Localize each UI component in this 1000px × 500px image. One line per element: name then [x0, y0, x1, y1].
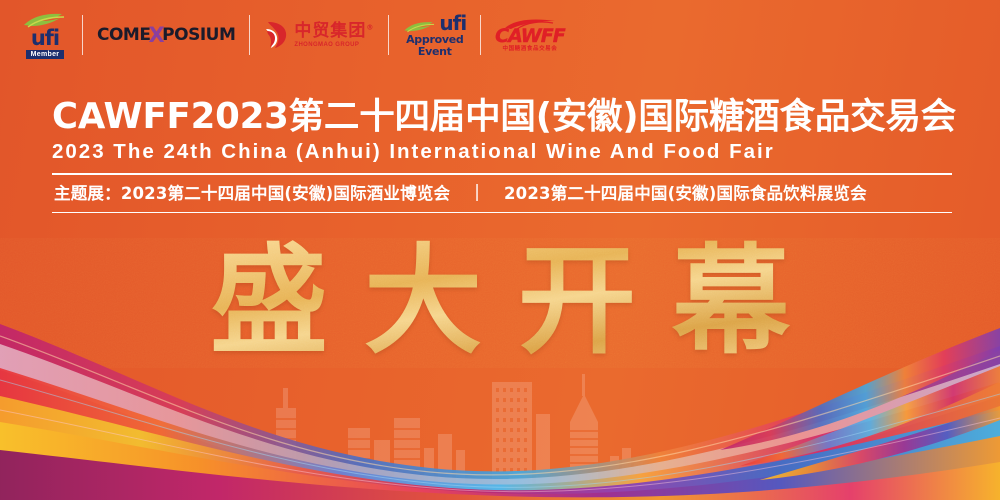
logo-divider — [480, 15, 481, 55]
page-subtitle: 2023 The 24th China (Anhui) Internationa… — [52, 140, 952, 164]
ufi-approved-line1: Approved — [406, 34, 463, 46]
rule-bottom — [52, 212, 952, 214]
zhongmao-group-logo[interactable]: 中贸集团® ZHONGMAO GROUP — [264, 8, 374, 62]
comexposium-part2: POSIUM — [162, 25, 235, 45]
theme-exhibition-1: 2023第二十四届中国(安徽)国际酒业博览会 — [121, 180, 450, 204]
ufi-approved-wordmark: ufi — [439, 13, 466, 34]
page-title: CAWFF2023第二十四届中国(安徽)国际糖酒食品交易会 — [52, 98, 952, 136]
zhongmao-mark-icon — [264, 20, 290, 50]
comexposium-part1: COME — [97, 25, 150, 45]
cawff-logo[interactable]: CAWFF 中国糖酒食品交易会 — [495, 8, 565, 62]
logo-divider — [249, 15, 250, 55]
colorful-ribbon-waves — [0, 310, 1000, 500]
cawff-wordmark: CAWFF — [495, 27, 565, 46]
theme-label: 主题展： — [54, 180, 121, 204]
registered-mark-icon: ® — [366, 23, 374, 31]
comexposium-logo[interactable]: COME X POSIUM — [97, 8, 235, 62]
zhongmao-chinese-name: 中贸集团® — [294, 23, 374, 40]
cawff-chinese-name: 中国糖酒食品交易会 — [502, 47, 557, 53]
logo-divider — [388, 15, 389, 55]
theme-divider: | — [474, 182, 480, 201]
ufi-member-logo[interactable]: ufi Member — [22, 8, 68, 62]
ufi-wordmark: ufi — [31, 28, 59, 49]
ufi-member-tag: Member — [26, 50, 65, 59]
ufi-approved-event-logo[interactable]: ufi Approved Event — [403, 8, 466, 62]
headline-block: CAWFF2023第二十四届中国(安徽)国际糖酒食品交易会 2023 The 2… — [52, 98, 952, 213]
logo-divider — [82, 15, 83, 55]
theme-exhibition-2: 2023第二十四届中国(安徽)国际食品饮料展览会 — [504, 180, 867, 204]
ufi-approved-wing-icon — [403, 20, 437, 34]
zhongmao-english-name: ZHONGMAO GROUP — [294, 42, 374, 48]
event-banner: ufi Member COME X POSIUM — [0, 0, 1000, 500]
sponsor-logo-bar: ufi Member COME X POSIUM — [22, 8, 565, 62]
ufi-approved-line2: Event — [418, 46, 452, 58]
theme-exhibitions-line: 主题展： 2023第二十四届中国(安徽)国际酒业博览会 | 2023第二十四届中… — [52, 175, 952, 206]
